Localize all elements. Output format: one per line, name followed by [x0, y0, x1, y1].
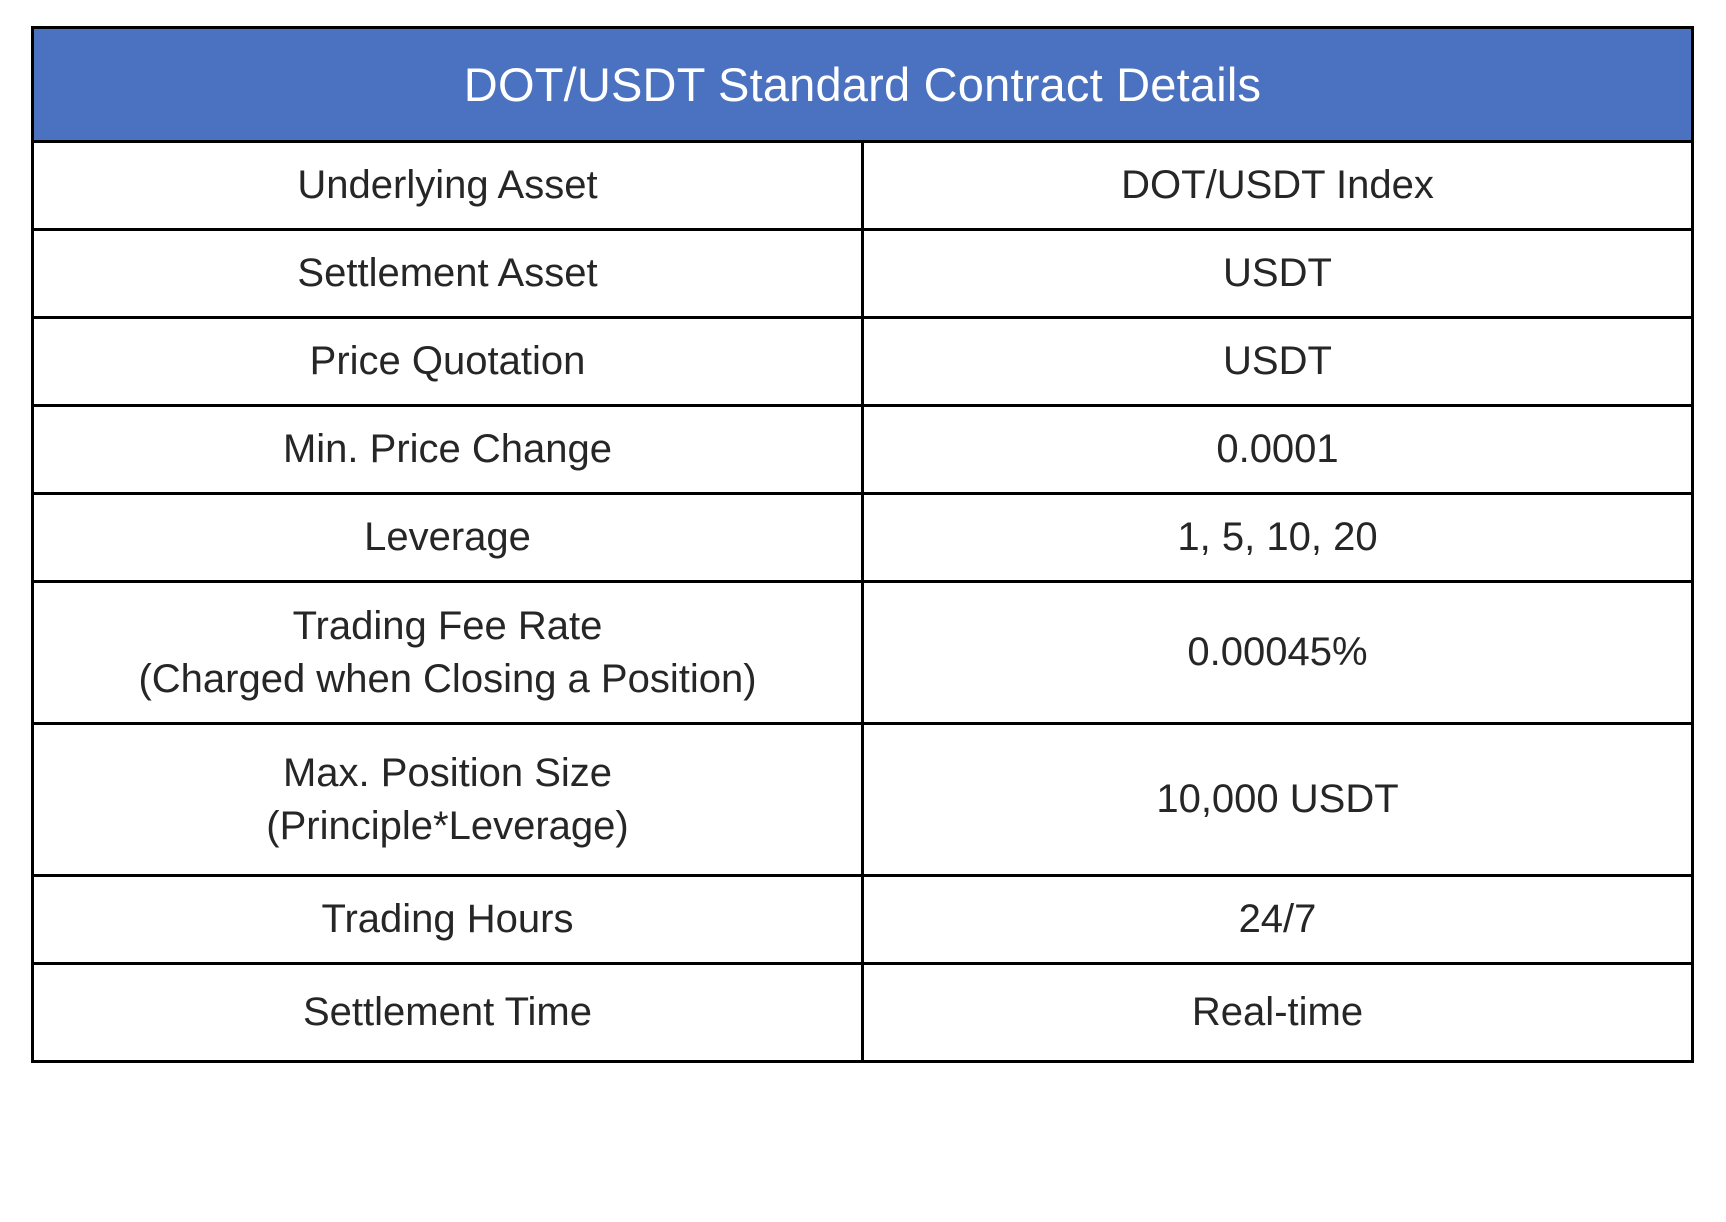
row-label-underlying-asset: Underlying Asset [33, 142, 863, 230]
row-value-price-quotation: USDT [863, 318, 1693, 406]
label-subtext: (Principle*Leverage) [34, 800, 861, 853]
label-text: Underlying Asset [34, 159, 861, 212]
row-label-leverage: Leverage [33, 494, 863, 582]
contract-details-table: DOT/USDT Standard Contract Details Under… [31, 26, 1694, 1063]
table-header-row: DOT/USDT Standard Contract Details [33, 28, 1693, 142]
row-value-max-position-size: 10,000 USDT [863, 724, 1693, 876]
value-text: USDT [864, 335, 1691, 388]
table-row: Underlying Asset DOT/USDT Index [33, 142, 1693, 230]
row-label-trading-hours: Trading Hours [33, 876, 863, 964]
row-value-underlying-asset: DOT/USDT Index [863, 142, 1693, 230]
row-value-leverage: 1, 5, 10, 20 [863, 494, 1693, 582]
value-text: USDT [864, 247, 1691, 300]
row-label-price-quotation: Price Quotation [33, 318, 863, 406]
row-value-trading-fee-rate: 0.00045% [863, 582, 1693, 724]
row-value-trading-hours: 24/7 [863, 876, 1693, 964]
page-root: DOT/USDT Standard Contract Details Under… [0, 0, 1726, 1222]
value-text: 1, 5, 10, 20 [864, 511, 1691, 564]
table-body: Underlying Asset DOT/USDT Index Settleme… [33, 142, 1693, 1062]
value-text: 0.00045% [864, 626, 1691, 679]
table-row: Settlement Time Real-time [33, 964, 1693, 1062]
label-text: Max. Position Size [34, 747, 861, 800]
table-row: Trading Hours 24/7 [33, 876, 1693, 964]
label-text: Settlement Time [34, 986, 861, 1039]
row-label-max-position-size: Max. Position Size (Principle*Leverage) [33, 724, 863, 876]
row-value-min-price-change: 0.0001 [863, 406, 1693, 494]
row-label-settlement-time: Settlement Time [33, 964, 863, 1062]
label-text: Settlement Asset [34, 247, 861, 300]
table-row: Trading Fee Rate (Charged when Closing a… [33, 582, 1693, 724]
row-label-min-price-change: Min. Price Change [33, 406, 863, 494]
value-text: DOT/USDT Index [864, 159, 1691, 212]
table-head: DOT/USDT Standard Contract Details [33, 28, 1693, 142]
label-text: Trading Hours [34, 893, 861, 946]
table-row: Settlement Asset USDT [33, 230, 1693, 318]
label-text: Leverage [34, 511, 861, 564]
label-text: Trading Fee Rate [34, 600, 861, 653]
table-row: Price Quotation USDT [33, 318, 1693, 406]
page-title: DOT/USDT Standard Contract Details [464, 58, 1261, 111]
row-label-settlement-asset: Settlement Asset [33, 230, 863, 318]
value-text: 24/7 [864, 893, 1691, 946]
label-subtext: (Charged when Closing a Position) [34, 653, 861, 706]
value-text: 0.0001 [864, 423, 1691, 476]
value-text: 10,000 USDT [864, 773, 1691, 826]
label-text: Price Quotation [34, 335, 861, 388]
row-label-trading-fee-rate: Trading Fee Rate (Charged when Closing a… [33, 582, 863, 724]
table-row: Min. Price Change 0.0001 [33, 406, 1693, 494]
row-value-settlement-time: Real-time [863, 964, 1693, 1062]
table-row: Leverage 1, 5, 10, 20 [33, 494, 1693, 582]
table-header-cell: DOT/USDT Standard Contract Details [33, 28, 1693, 142]
value-text: Real-time [864, 986, 1691, 1039]
table-row: Max. Position Size (Principle*Leverage) … [33, 724, 1693, 876]
row-value-settlement-asset: USDT [863, 230, 1693, 318]
label-text: Min. Price Change [34, 423, 861, 476]
